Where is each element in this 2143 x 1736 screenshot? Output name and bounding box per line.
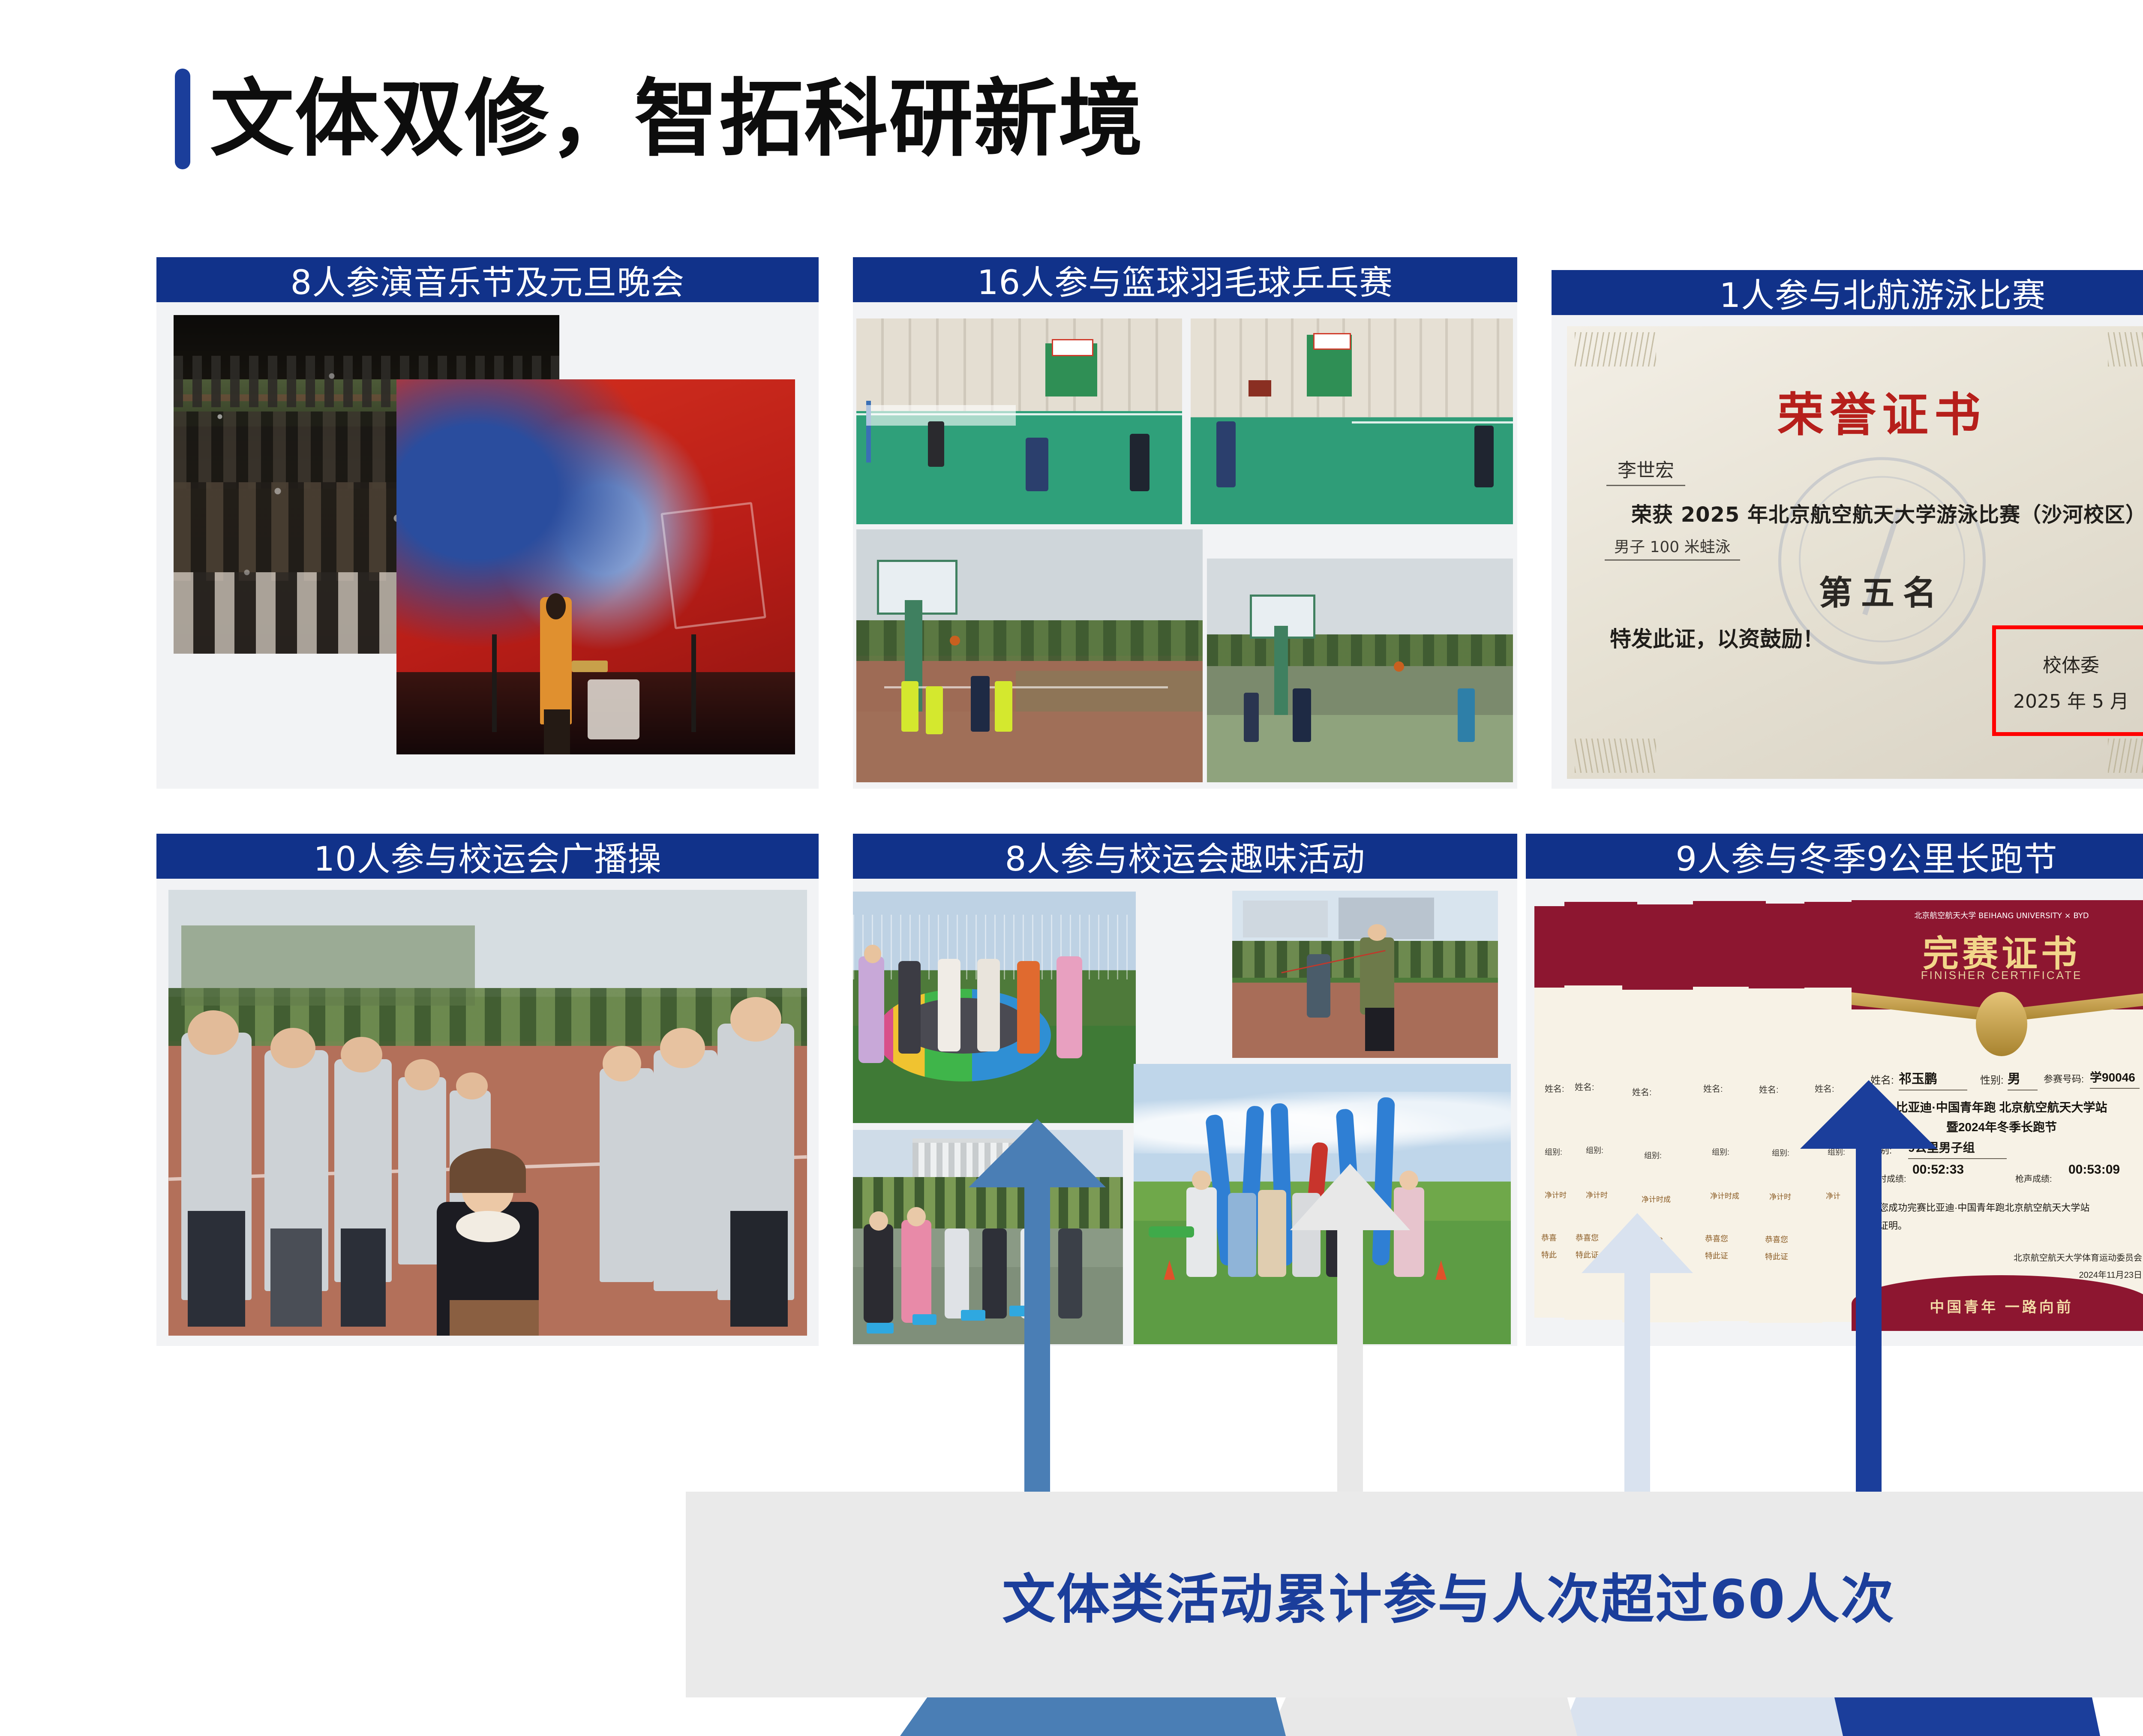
card-body-music-festival — [156, 302, 819, 789]
jump-rope-photo — [1232, 891, 1498, 1058]
certificate-closing: 特发此证，以资鼓励！ — [1610, 622, 1824, 653]
card-body-swimming: 荣誉证书 李世宏 荣获 2025 年北京航空航天大学游泳比赛（沙河校区） 男子 … — [1552, 315, 2143, 789]
card-header-broadcast-gymnastics: 10人参与校运会广播操 — [156, 834, 819, 879]
summary-banner: 文体类活动累计参与人次超过60人次 — [686, 1492, 2143, 1697]
certificate-org-line: 北京航空航天大学 BEIHANG UNIVERSITY × BYD — [1852, 910, 2143, 921]
stage-singer-photo — [396, 379, 795, 754]
outdoor-basketball-photo-2 — [1207, 559, 1513, 782]
card-header-swimming: 1人参与北航游泳比赛 — [1552, 270, 2143, 315]
card-swimming[interactable]: 1人参与北航游泳比赛 荣誉证书 李世宏 — [1552, 270, 2143, 789]
finisher-certificate-subtitle: FINISHER CERTIFICATE — [1852, 969, 2143, 982]
swimming-honor-certificate: 荣誉证书 李世宏 荣获 2025 年北京航空航天大学游泳比赛（沙河校区） 男子 … — [1567, 326, 2143, 779]
summary-banner-text: 文体类活动累计参与人次超过60人次 — [1002, 1556, 1895, 1633]
certificate-body: 荣获 2025 年北京航空航天大学游泳比赛（沙河校区） — [1631, 498, 2143, 528]
certificate-date: 2025 年 5 月 — [1996, 686, 2143, 713]
certificate-issuer-highlight: 校体委 2025 年 5 月 — [1992, 625, 2143, 736]
card-header-music-festival: 8人参演音乐节及元旦晚会 — [156, 257, 819, 302]
certificate-event: 男子 100 米蛙泳 — [1605, 535, 1740, 561]
certificate-recipient: 李世宏 — [1606, 455, 1685, 486]
certificate-issuer: 校体委 — [1996, 650, 2143, 677]
outdoor-basketball-photo-1 — [856, 529, 1203, 782]
slide-root: 文体双修，智拓科研新境 1952 北 京 航 空 航 天 大 — [0, 0, 2143, 1736]
certificate-rank: 第五名 — [1567, 566, 2143, 614]
card-ball-sports[interactable]: 16人参与篮球羽毛球乒乓赛 — [853, 257, 1517, 789]
certificate-title: 荣誉证书 — [1567, 378, 2143, 445]
card-header-fun-sports: 8人参与校运会趣味活动 — [853, 834, 1517, 879]
badminton-indoor-photo-1 — [856, 318, 1182, 524]
card-music-festival[interactable]: 8人参演音乐节及元旦晚会 — [156, 257, 819, 789]
card-header-winter-run: 9人参与冬季9公里长跑节 — [1526, 834, 2143, 879]
badminton-indoor-photo-2 — [1191, 318, 1513, 524]
card-header-ball-sports: 16人参与篮球羽毛球乒乓赛 — [853, 257, 1517, 302]
card-body-ball-sports — [853, 302, 1517, 789]
